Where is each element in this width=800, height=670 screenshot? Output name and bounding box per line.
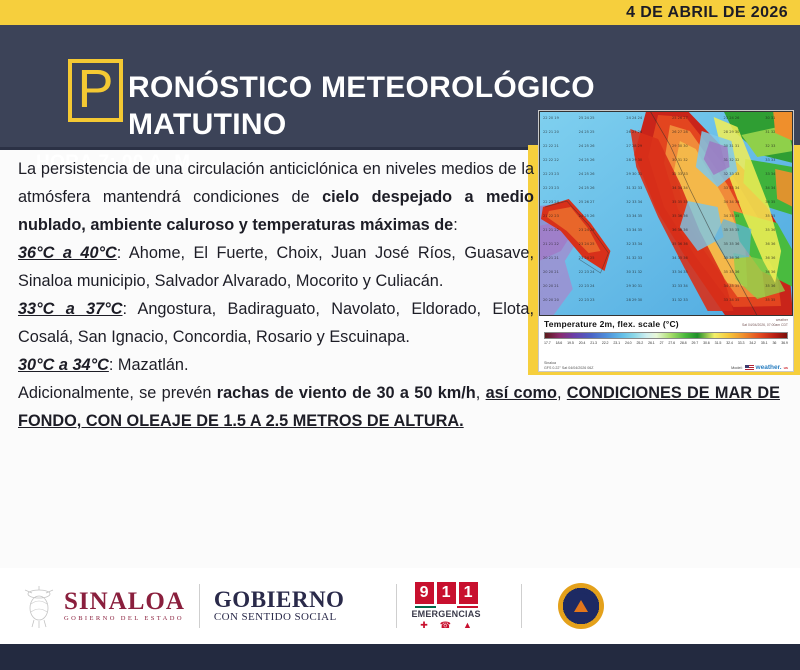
divider-2 (396, 584, 397, 628)
civil-protection-triangle-icon (574, 600, 588, 612)
footer-logos: SINALOA GOBIERNO DEL ESTADO GOBIERNO CON… (0, 568, 800, 644)
svg-text:24 24 24: 24 24 24 (626, 116, 643, 120)
svg-text:22 20 19: 22 20 19 (543, 116, 560, 120)
svg-text:29 30 30: 29 30 30 (672, 144, 689, 148)
wind-gusts-bold: rachas de viento de 30 a 50 km/h (217, 384, 476, 402)
gobierno-wordmark: GOBIERNO CON SENTIDO SOCIAL (214, 588, 345, 624)
emergency-digit: 1 (459, 582, 478, 604)
divider-1 (199, 584, 200, 628)
proteccion-civil-badge-icon (558, 583, 604, 629)
gobierno-tagline: CON SENTIDO SOCIAL (214, 612, 345, 624)
svg-text:24 25 26: 24 25 26 (579, 144, 596, 148)
range-3-label: 30°C a 34°C (18, 356, 109, 374)
sinaloa-tagline: GOBIERNO DEL ESTADO (64, 616, 185, 623)
range-2-label: 33°C a 37°C (18, 300, 123, 318)
medical-cross-icon: ✚ (420, 621, 428, 630)
legend-tick: 36.9 (781, 341, 788, 345)
emergency-911-logo: 911 EMERGENCIAS ✚☎▲ (411, 582, 480, 631)
additional-text-plain: Adicionalmente, se prevén (18, 384, 217, 402)
telephone-icon: ☎ (440, 621, 451, 630)
temperature-range-1: 36°C a 40°C: Ahome, El Fuerte, Choix, Ju… (18, 239, 534, 295)
fire-icon: ▲ (463, 621, 472, 630)
forecast-infographic: 4 DE ABRIL DE 2026 P RONÓSTICO METEOROLÓ… (0, 0, 800, 670)
paragraph-intro: La persistencia de una circulación antic… (18, 155, 534, 239)
emergency-label: EMERGENCIAS (411, 609, 480, 619)
svg-text:30 31: 30 31 (765, 116, 775, 120)
brand-suffix: us (784, 366, 788, 370)
additional-comma-1: , (476, 384, 486, 402)
svg-text:27 28 29: 27 28 29 (626, 144, 643, 148)
svg-text:22 21 20: 22 21 20 (543, 130, 560, 134)
date-text: 4 DE ABRIL DE 2026 (626, 4, 800, 22)
date-bar: 4 DE ABRIL DE 2026 (0, 0, 800, 25)
asi-como-underline: así como (486, 384, 557, 402)
emergency-digit: 9 (415, 582, 434, 604)
svg-text:31 32: 31 32 (765, 130, 775, 134)
emergency-service-icons: ✚☎▲ (420, 621, 472, 630)
gobierno-name: GOBIERNO (214, 588, 345, 612)
p-logo-letter: P (77, 64, 113, 114)
svg-text:24 25 25: 24 25 25 (579, 130, 595, 134)
range-1-label: 36°C a 40°C (18, 244, 117, 262)
badge-inner-circle (568, 593, 594, 619)
svg-text:23 24 26: 23 24 26 (724, 116, 741, 120)
svg-text:22 22 21: 22 22 21 (543, 144, 559, 148)
emergency-digit: 1 (437, 582, 456, 604)
emergency-digits: 911 (415, 582, 478, 604)
svg-text:30 31 31: 30 31 31 (724, 144, 740, 148)
svg-text:25 26 27: 25 26 27 (672, 116, 688, 120)
additional-comma-2: , (557, 384, 567, 402)
state-seal-icon (22, 584, 56, 628)
temperature-range-2: 33°C a 37°C: Angostura, Badiraguato, Nav… (18, 295, 534, 351)
svg-text:28 29 30: 28 29 30 (724, 130, 741, 134)
forecast-body: La persistencia de una circulación antic… (18, 155, 782, 435)
svg-text:26 27 26: 26 27 26 (626, 130, 643, 134)
footer-bottom-bar (0, 644, 800, 670)
svg-text:25 24 25: 25 24 25 (579, 116, 595, 120)
paragraph-additional: Adicionalmente, se prevén rachas de vien… (18, 379, 780, 435)
sinaloa-wordmark: SINALOA GOBIERNO DEL ESTADO (64, 589, 185, 623)
tricolor-bar-icon (415, 606, 478, 609)
intro-text-colon: : (453, 216, 458, 234)
svg-text:32 33: 32 33 (765, 144, 775, 148)
svg-text:26 27 28: 26 27 28 (672, 130, 689, 134)
temperature-range-3: 30°C a 34°C: Mazatlán. (18, 351, 534, 379)
p-logo-icon: P (68, 59, 123, 122)
sinaloa-name: SINALOA (64, 589, 185, 614)
sinaloa-government-logo: SINALOA GOBIERNO DEL ESTADO (22, 584, 185, 628)
divider-3 (521, 584, 522, 628)
title-line-1: RONÓSTICO METEOROLÓGICO (128, 69, 728, 106)
range-3-municipalities: : Mazatlán. (109, 356, 189, 374)
